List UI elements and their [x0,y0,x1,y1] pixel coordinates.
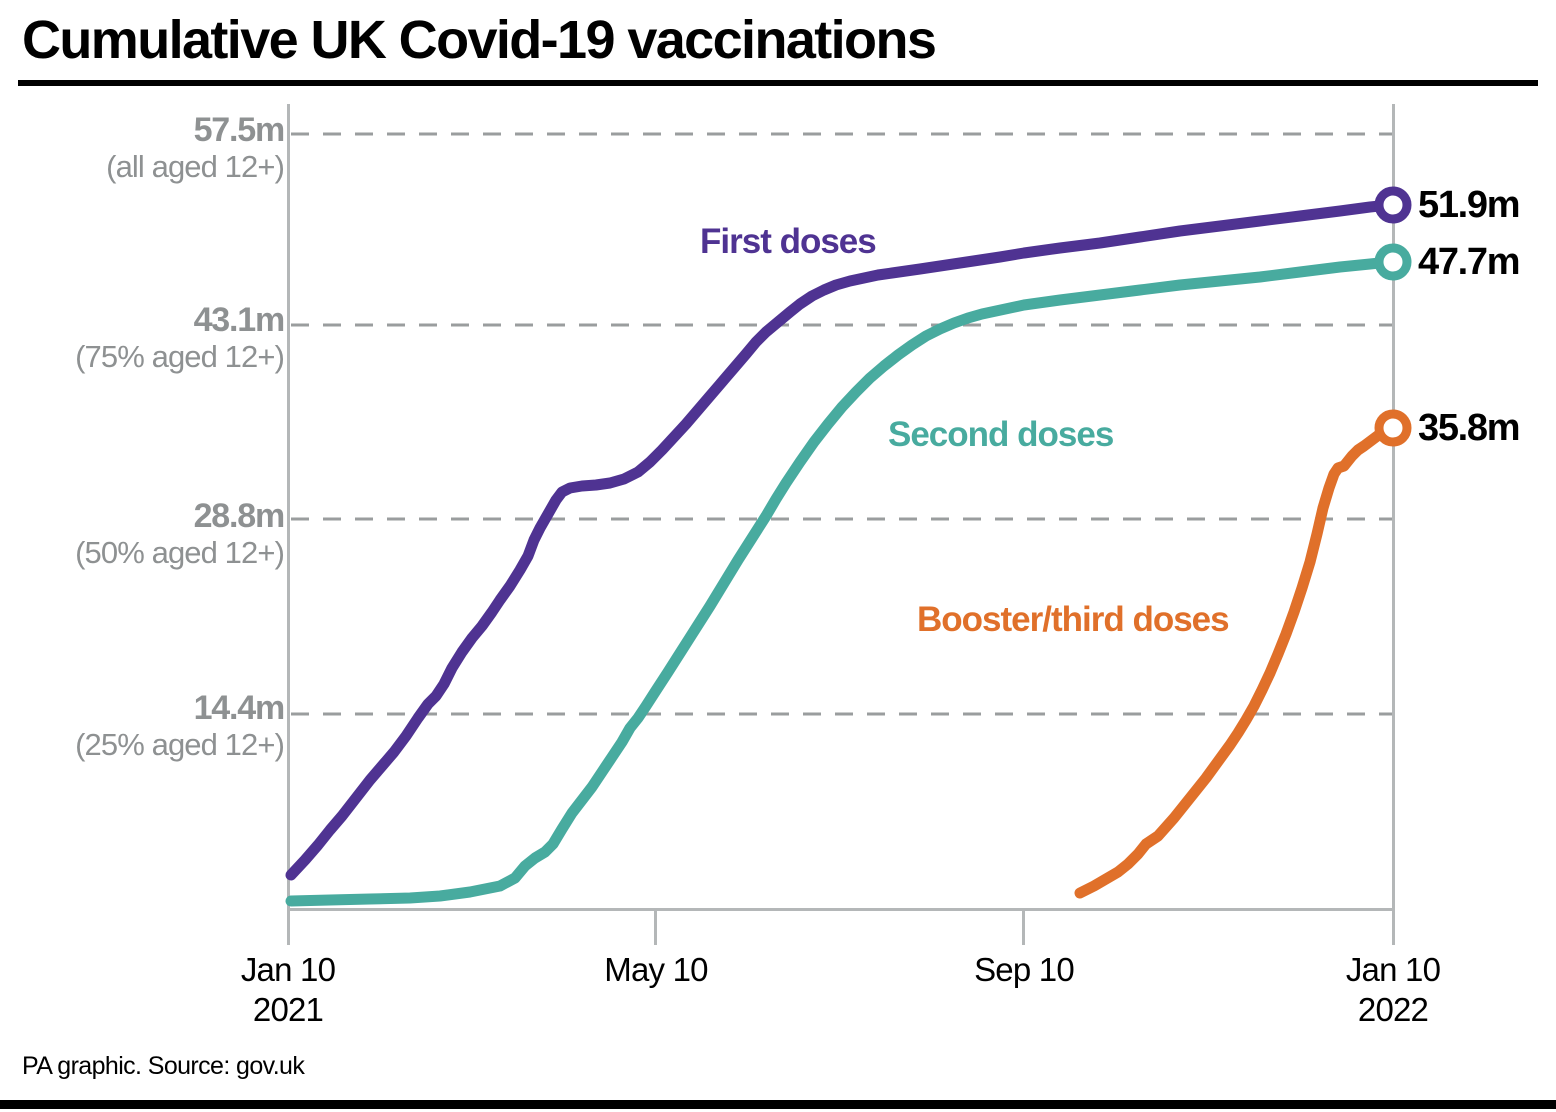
source-credit: PA graphic. Source: gov.uk [22,1052,304,1081]
x-tick-line2: 2021 [253,991,323,1028]
series-label-second-doses: Second doses [888,415,1113,455]
end-marker-booster-doses [1379,414,1407,442]
series-line-second-doses [291,262,1389,901]
x-tick-label-jan-10-2022: Jan 10 2022 [1263,950,1523,1030]
x-tick-line1: Jan 10 [1346,951,1440,988]
chart-graphic: Cumulative UK Covid-19 vaccinations 57.5… [0,0,1556,1112]
end-marker-second-doses [1379,248,1407,276]
series-line-first-doses [291,205,1389,875]
series-label-booster-doses: Booster/third doses [917,600,1229,640]
end-value-booster-doses: 35.8m [1418,407,1519,450]
x-tick-line2: 2022 [1358,991,1428,1028]
x-tick-line1: Sep 10 [974,951,1074,988]
x-tick-line1: Jan 10 [241,951,335,988]
x-tick-label-may-10: May 10 [526,950,786,990]
x-tick-line1: May 10 [604,951,707,988]
end-marker-first-doses [1379,191,1407,219]
end-value-first-doses: 51.9m [1418,184,1519,227]
x-tick-label-jan-10-2021: Jan 10 2021 [158,950,418,1030]
series-line-booster-doses [1080,430,1389,893]
plot-svg [0,0,1556,1112]
footer-rule [0,1100,1556,1109]
x-tick-label-sep-10: Sep 10 [894,950,1154,990]
series-label-first-doses: First doses [700,222,876,262]
plot-area [0,0,1556,1112]
end-value-second-doses: 47.7m [1418,241,1519,284]
